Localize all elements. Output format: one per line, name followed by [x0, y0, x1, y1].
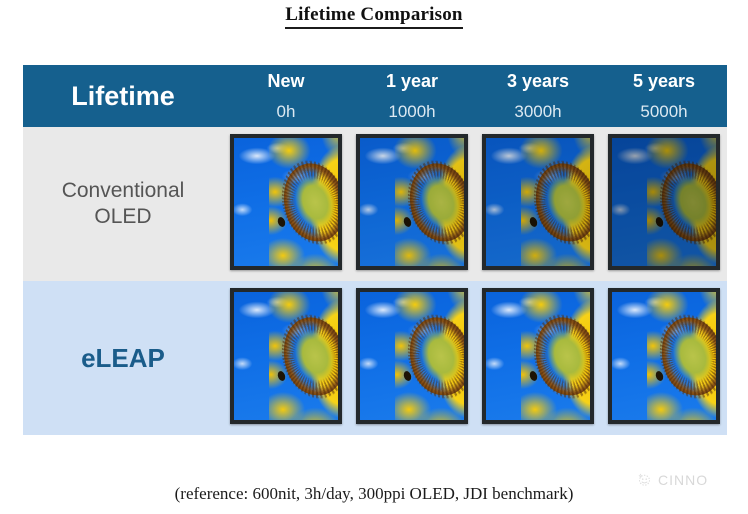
cell-conventional-new: [223, 127, 349, 281]
cell-eleap-new: [223, 281, 349, 435]
page-title-text: Lifetime Comparison: [285, 4, 462, 29]
page-title: Lifetime Comparison: [0, 4, 748, 29]
cell-conventional-3years: [475, 127, 601, 281]
row-label-conventional-oled-text: Conventional OLED: [23, 178, 223, 231]
header-hours-3years: 3000h: [475, 97, 601, 127]
table-row-eleap: eLEAP: [23, 281, 727, 435]
table-header-row-top: Lifetime New 1 year 3 years 5 years: [23, 65, 727, 97]
sunflower-image-conventional-1year: [356, 134, 468, 270]
cell-conventional-1year: [349, 127, 475, 281]
sunflower-image-eleap-new: [230, 288, 342, 424]
cinno-watermark: CINNO: [636, 471, 708, 488]
sunflower-image-eleap-5years: [608, 288, 720, 424]
header-hours-new: 0h: [223, 97, 349, 127]
cell-eleap-1year: [349, 281, 475, 435]
cinno-watermark-text: CINNO: [658, 472, 708, 488]
sunflower-image-eleap-3years: [482, 288, 594, 424]
sunflower-image-eleap-1year: [356, 288, 468, 424]
cell-conventional-5years: [601, 127, 727, 281]
row-label-conventional-oled: Conventional OLED: [23, 127, 223, 281]
sunflower-image-conventional-3years: [482, 134, 594, 270]
row-label-line2: OLED: [23, 204, 223, 230]
row-label-eleap: eLEAP: [23, 281, 223, 435]
table-row-conventional-oled: Conventional OLED: [23, 127, 727, 281]
header-col-5years: 5 years: [601, 65, 727, 97]
header-hours-5years: 5000h: [601, 97, 727, 127]
row-label-eleap-text: eLEAP: [23, 343, 223, 374]
sunflower-image-conventional-new: [230, 134, 342, 270]
row-label-line1: Conventional: [23, 178, 223, 204]
sunflower-image-conventional-5years: [608, 134, 720, 270]
cinno-logo-icon: [636, 471, 653, 488]
header-hours-1year: 1000h: [349, 97, 475, 127]
header-col-1year: 1 year: [349, 65, 475, 97]
cell-eleap-5years: [601, 281, 727, 435]
header-col-3years: 3 years: [475, 65, 601, 97]
cell-eleap-3years: [475, 281, 601, 435]
lifetime-comparison-table: Lifetime New 1 year 3 years 5 years 0h 1…: [23, 65, 727, 435]
header-corner-lifetime: Lifetime: [23, 65, 223, 127]
header-col-new: New: [223, 65, 349, 97]
